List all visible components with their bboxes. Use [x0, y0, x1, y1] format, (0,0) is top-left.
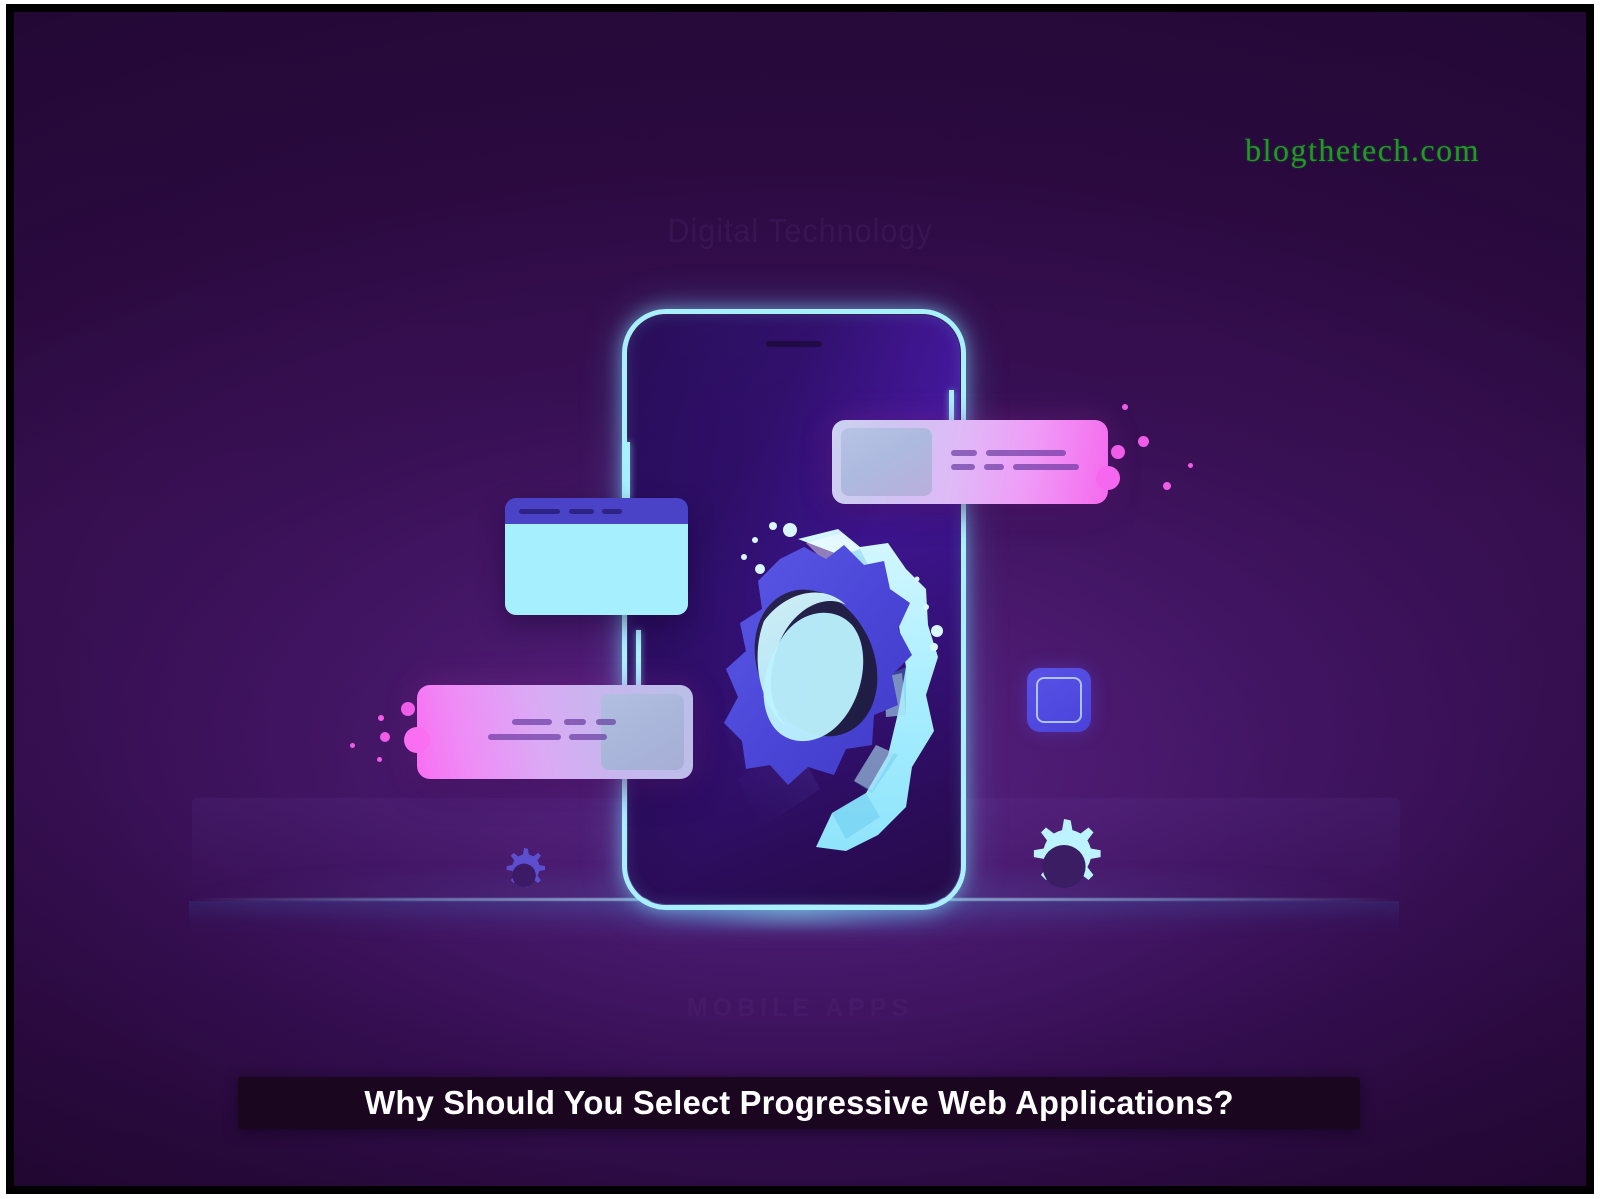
title-banner: Why Should You Select Progressive Web Ap…	[238, 1077, 1360, 1129]
background-vignette	[14, 12, 1586, 1186]
site-watermark: blogthetech.com	[1245, 132, 1480, 169]
title-banner-text: Why Should You Select Progressive Web Ap…	[364, 1084, 1233, 1122]
image-frame: APPS Digital Technology	[0, 0, 1600, 1199]
illustration-stage: APPS Digital Technology	[14, 12, 1586, 1186]
